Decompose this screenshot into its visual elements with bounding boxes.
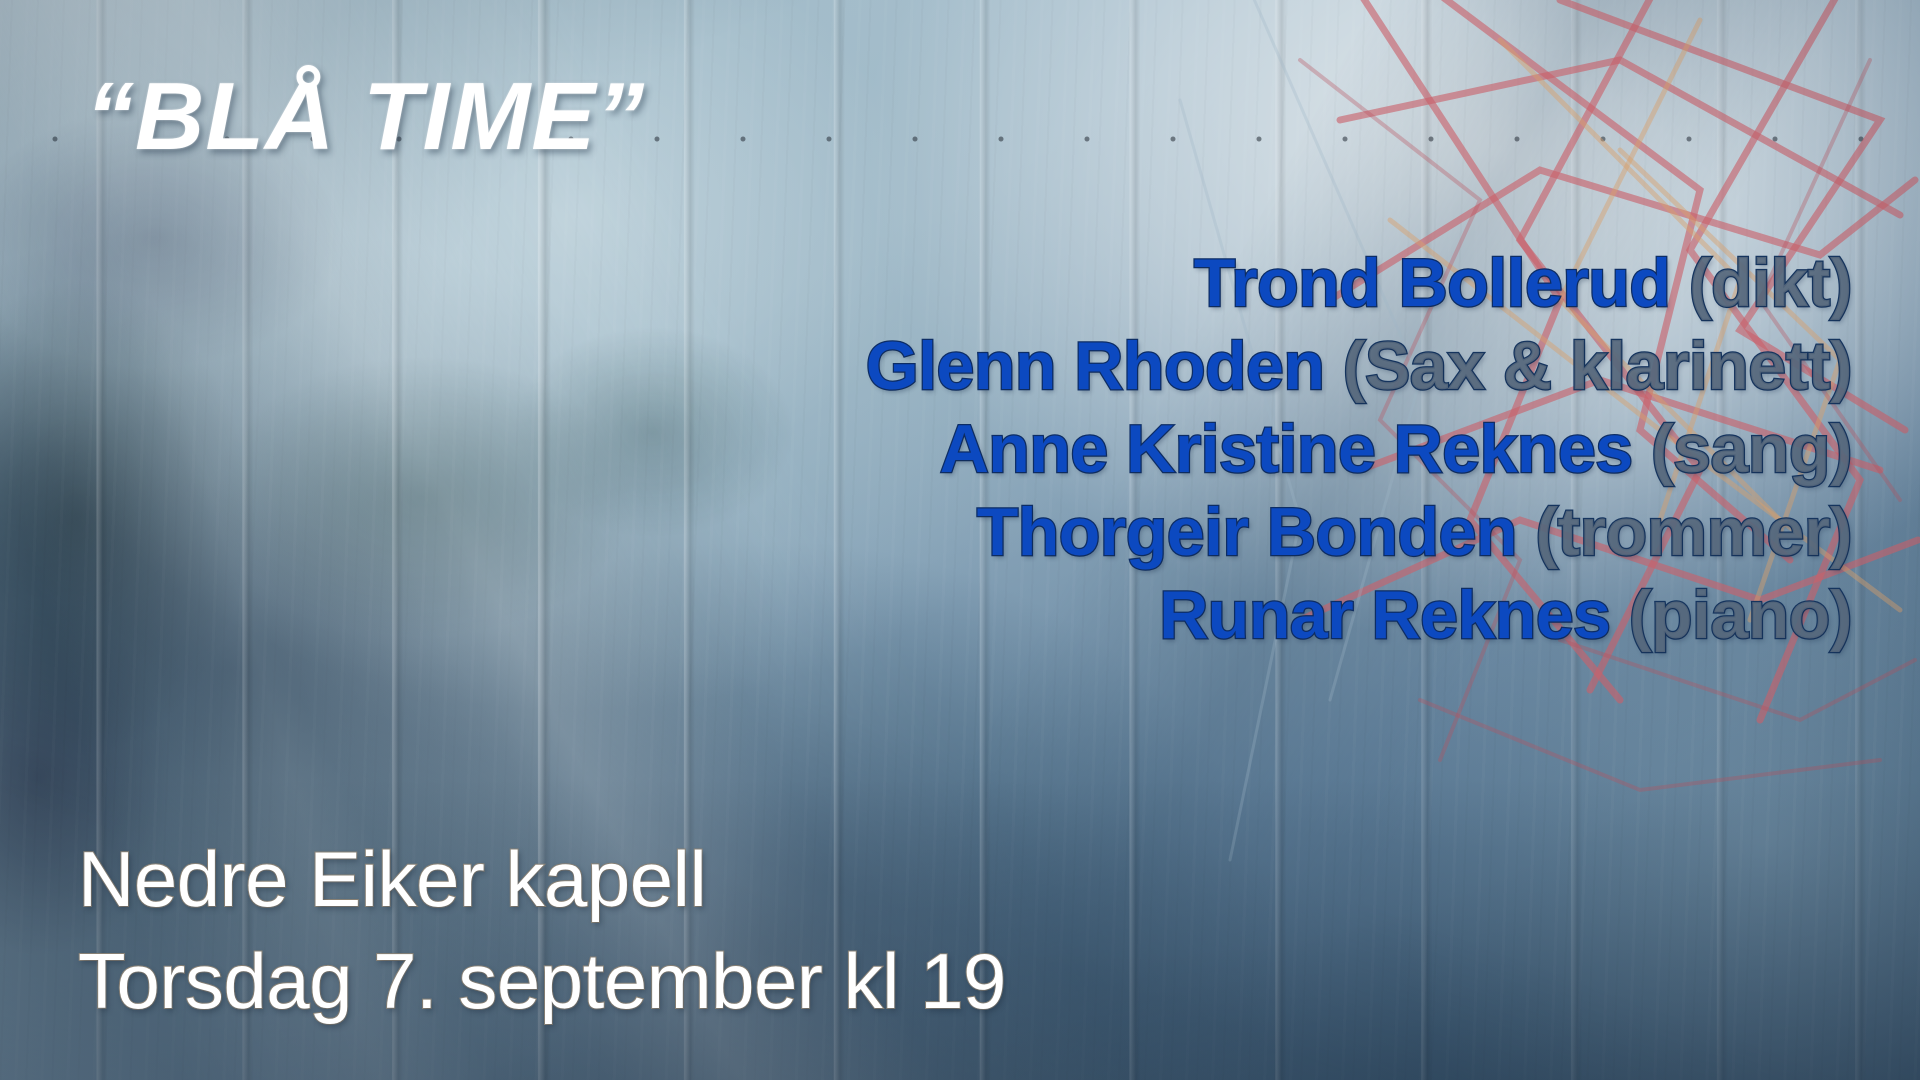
venue-and-date-block: Nedre Eiker kapell Torsdag 7. september … [78,829,1006,1032]
performer-row: Thorgeir Bonden (trommer) [612,491,1852,574]
event-datetime: Torsdag 7. september kl 19 [78,931,1006,1032]
poster-title: “BLÅ TIME” [86,62,645,172]
performer-role: (Sax & klarinett) [1343,328,1852,404]
performer-row: Anne Kristine Reknes (sang) [612,408,1852,491]
performer-row: Glenn Rhoden (Sax & klarinett) [612,325,1852,408]
venue-name: Nedre Eiker kapell [78,829,1006,930]
performer-row: Trond Bollerud (dikt) [612,242,1852,325]
performer-role: (dikt) [1689,245,1852,321]
performer-list: Trond Bollerud (dikt) Glenn Rhoden (Sax … [612,242,1852,657]
performer-name: Anne Kristine Reknes [940,411,1633,487]
performer-role: (sang) [1651,411,1852,487]
performer-name: Runar Reknes [1159,577,1610,653]
performer-name: Thorgeir Bonden [977,494,1517,570]
performer-name: Glenn Rhoden [866,328,1325,404]
poster-content: “BLÅ TIME” Trond Bollerud (dikt) Glenn R… [0,0,1920,1080]
event-poster: “BLÅ TIME” Trond Bollerud (dikt) Glenn R… [0,0,1920,1080]
performer-name: Trond Bollerud [1194,245,1671,321]
performer-row: Runar Reknes (piano) [612,574,1852,657]
performer-role: (piano) [1629,577,1852,653]
performer-role: (trommer) [1535,494,1852,570]
